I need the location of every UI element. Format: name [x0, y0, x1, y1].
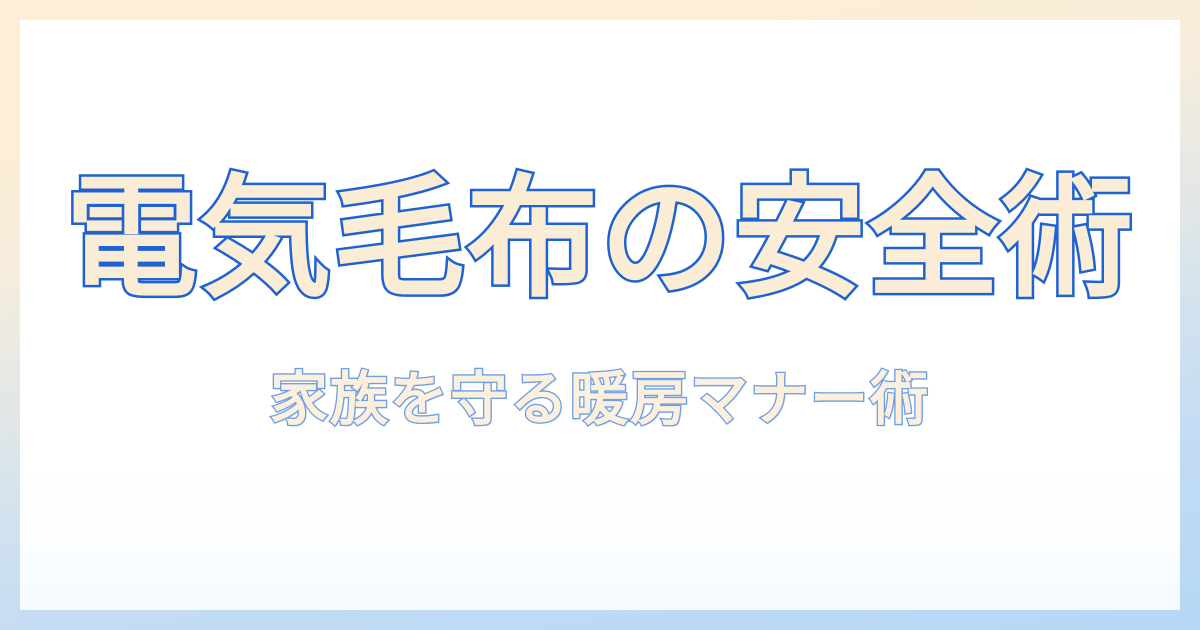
page-subtitle: 家族を守る暖房マナー術: [20, 368, 1180, 432]
page-title: 電気毛布の安全術: [20, 170, 1180, 310]
title-card-canvas: 電気毛布の安全術 家族を守る暖房マナー術: [0, 0, 1200, 630]
content-panel: 電気毛布の安全術 家族を守る暖房マナー術: [20, 20, 1180, 610]
hero-text-stack: 電気毛布の安全術 家族を守る暖房マナー術: [20, 170, 1180, 432]
